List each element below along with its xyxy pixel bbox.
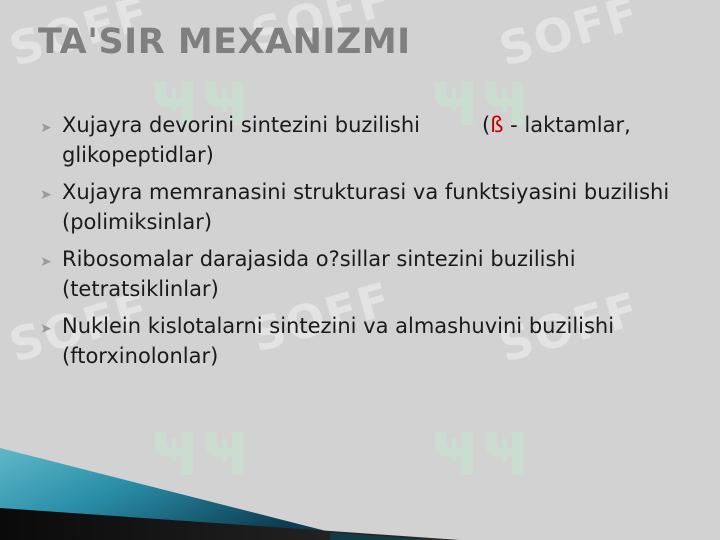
bullet-list: ➤ Xujayra devorini sintezini buzilishi(ß… [40, 110, 690, 378]
bullet-paren: ( [482, 113, 490, 137]
list-item: ➤ Nuklein kislotalarni sintezini va alma… [40, 311, 690, 372]
watermark-text: SOFF [493, 0, 645, 77]
list-item-text: Xujayra memranasini strukturasi va funkt… [62, 177, 690, 238]
bullet-text-pre: Xujayra devorini sintezini buzilishi [62, 113, 420, 137]
slide-title: TA'SIR MEXANIZMI [38, 22, 411, 62]
bullet-arrow-icon: ➤ [40, 311, 62, 346]
list-item-text: Xujayra devorini sintezini buzilishi(ß -… [62, 110, 690, 171]
bullet-arrow-icon: ➤ [40, 244, 62, 279]
list-item: ➤ Xujayra memranasini strukturasi va fun… [40, 177, 690, 238]
list-item-text: Nuklein kislotalarni sintezini va almash… [62, 311, 690, 372]
bullet-arrow-icon: ➤ [40, 177, 62, 212]
beta-symbol: ß [490, 113, 503, 137]
slide: SOFF SOFF SOFF SOFF SOFF SOFF ҸҸ ҸҸ ҸҸ Ҹ… [0, 0, 720, 540]
bullet-arrow-icon: ➤ [40, 110, 62, 145]
list-item: ➤ Ribosomalar darajasida o?sillar sintez… [40, 244, 690, 305]
list-item: ➤ Xujayra devorini sintezini buzilishi(ß… [40, 110, 690, 171]
list-item-text: Ribosomalar darajasida o?sillar sintezin… [62, 244, 690, 305]
slide-decoration [0, 430, 720, 540]
decoration-shape [0, 430, 720, 540]
